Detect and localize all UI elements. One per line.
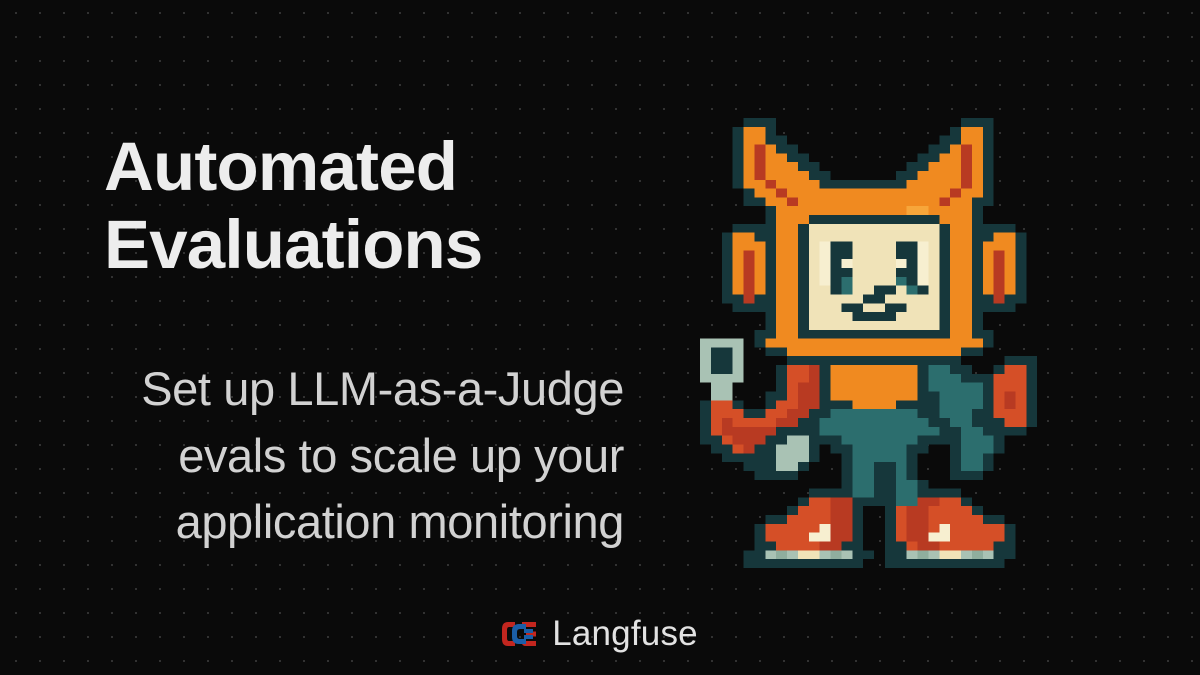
brand-lockup: Langfuse — [0, 616, 1200, 651]
langfuse-banner: Automated Evaluations Set up LLM-as-a-Ju… — [0, 0, 1200, 675]
text-column: Automated Evaluations Set up LLM-as-a-Ju… — [0, 0, 640, 675]
mascot-illustration — [700, 118, 1048, 568]
page-subtitle: Set up LLM-as-a-Judge evals to scale up … — [14, 356, 624, 556]
langfuse-logo-icon — [502, 620, 538, 648]
page-title: Automated Evaluations — [104, 128, 634, 284]
brand-name-label: Langfuse — [552, 616, 698, 651]
langfuse-fox-astronaut-mascot-icon — [700, 118, 1048, 568]
